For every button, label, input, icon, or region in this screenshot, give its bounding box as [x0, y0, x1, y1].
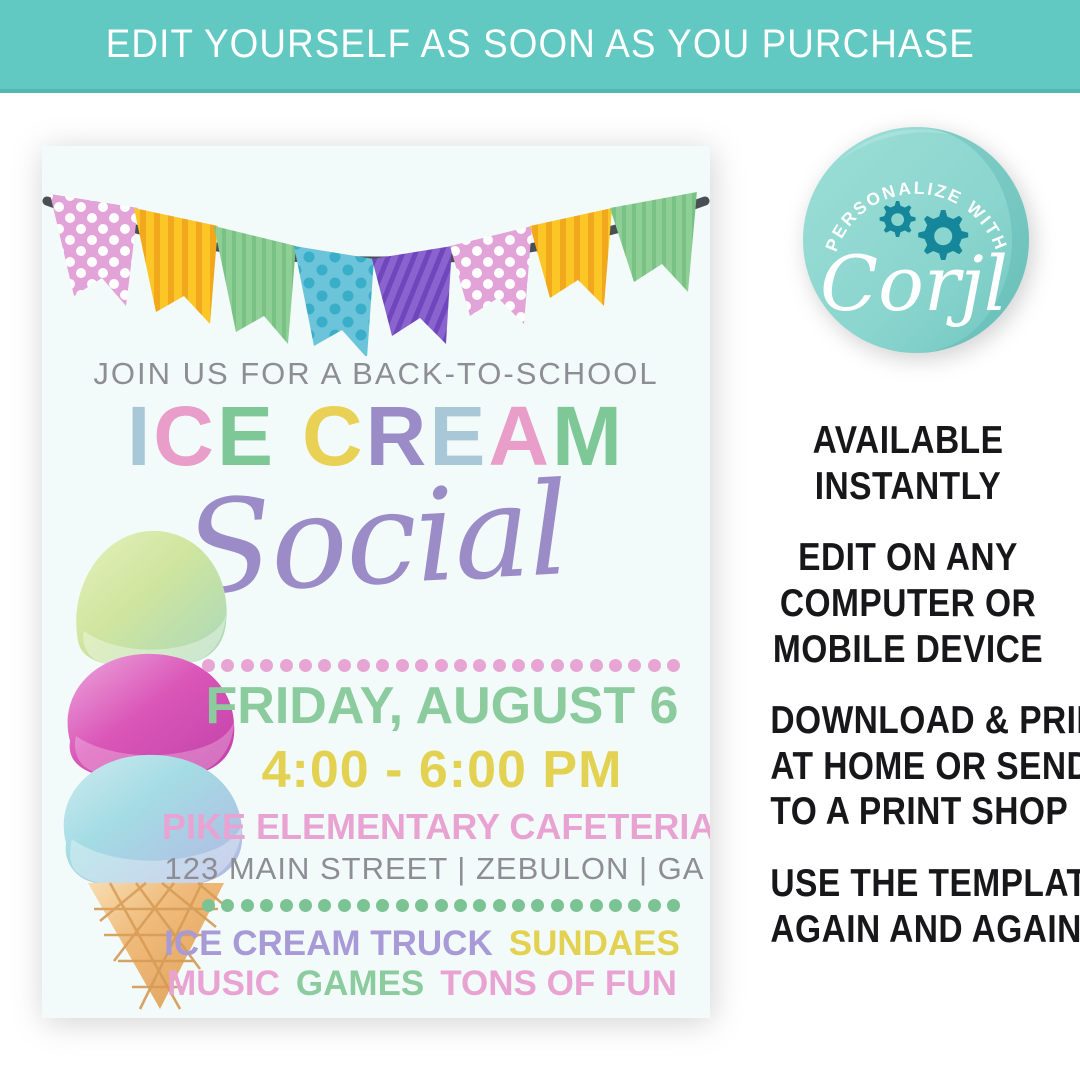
divider-dot [570, 899, 583, 912]
divider-dot [667, 659, 680, 672]
event-venue: PIKE ELEMENTARY CAFETERIA [162, 806, 707, 848]
feature-line: INSTANTLY [770, 464, 1045, 510]
divider-dots-bottom [202, 898, 680, 912]
corjl-badge[interactable]: PERSONALIZE WITH Corjl [800, 124, 1033, 357]
feature-line: COMPUTER OR [770, 581, 1045, 627]
feature-line: AGAIN AND AGAIN! [770, 907, 1045, 953]
divider-dot [473, 899, 486, 912]
title-letter-1: C [153, 389, 217, 483]
title-letter-2: E [217, 389, 276, 483]
divider-dot [357, 899, 370, 912]
event-date: FRIDAY, AUGUST 6 [182, 676, 702, 736]
activity-item: TONS OF FUN [440, 964, 677, 1003]
divider-dot [512, 659, 525, 672]
title-letter-3: C [302, 389, 366, 483]
divider-dot [531, 899, 544, 912]
divider-dots-top [202, 658, 680, 672]
title-letter-6: A [488, 389, 552, 483]
title-letter-0: I [127, 389, 153, 483]
divider-dot [551, 899, 564, 912]
activities-row-2: MUSICGAMESTONS OF FUN [142, 964, 702, 1004]
divider-dot [241, 659, 254, 672]
promo-banner-text: EDIT YOURSELF AS SOON AS YOU PURCHASE [105, 22, 974, 67]
feature-block-2: DOWNLOAD & PRINTAT HOME OR SENDTO A PRIN… [770, 698, 1045, 835]
activity-item: SUNDAES [509, 924, 680, 963]
feature-line: AVAILABLE [770, 418, 1045, 464]
divider-dot [609, 899, 622, 912]
divider-dot [318, 899, 331, 912]
activities-row-1: ICE CREAM TRUCKSUNDAES [142, 924, 702, 964]
feature-line: EDIT ON ANY [770, 535, 1045, 581]
divider-dot [396, 899, 409, 912]
feature-block-1: EDIT ON ANYCOMPUTER ORMOBILE DEVICE [770, 535, 1045, 672]
feature-line: TO A PRINT SHOP [770, 789, 1045, 835]
feature-line: USE THE TEMPLATE [770, 861, 1045, 907]
divider-dot [648, 659, 661, 672]
feature-line: AT HOME OR SEND [770, 744, 1045, 790]
divider-dot [241, 899, 254, 912]
divider-dot [435, 899, 448, 912]
divider-dot [493, 659, 506, 672]
title-letter-4: R [366, 389, 430, 483]
divider-dot [493, 899, 506, 912]
divider-dot [221, 899, 234, 912]
divider-dot [415, 899, 428, 912]
promo-banner: EDIT YOURSELF AS SOON AS YOU PURCHASE [0, 0, 1080, 93]
divider-dot [202, 899, 215, 912]
divider-dot [590, 899, 603, 912]
invitation-card[interactable]: JOIN US FOR A BACK-TO-SCHOOL ICECREAM So… [42, 146, 710, 1018]
divider-dot [628, 899, 641, 912]
divider-dot [260, 659, 273, 672]
activity-item: ICE CREAM TRUCK [164, 924, 493, 963]
title-letter-5: E [429, 389, 488, 483]
invitation-eyebrow: JOIN US FOR A BACK-TO-SCHOOL [42, 356, 710, 392]
divider-dot [357, 659, 370, 672]
feature-block-0: AVAILABLEINSTANTLY [770, 418, 1045, 509]
divider-dot [376, 899, 389, 912]
divider-dot [318, 659, 331, 672]
event-time: 4:00 - 6:00 PM [182, 740, 702, 800]
bunting-flags-decoration [42, 146, 710, 356]
invitation-title: ICECREAM [42, 394, 710, 478]
divider-dot [454, 659, 467, 672]
event-address: 123 MAIN STREET | ZEBULON | GA [162, 851, 707, 887]
divider-dot [435, 659, 448, 672]
divider-dot [648, 899, 661, 912]
divider-dot [280, 659, 293, 672]
feature-line: DOWNLOAD & PRINT [770, 698, 1045, 744]
divider-dot [338, 659, 351, 672]
divider-dot [202, 659, 215, 672]
divider-dot [454, 899, 467, 912]
feature-block-3: USE THE TEMPLATEAGAIN AND AGAIN! [770, 861, 1045, 952]
divider-dot [473, 659, 486, 672]
divider-dot [260, 899, 273, 912]
divider-dot [570, 659, 583, 672]
divider-dot [609, 659, 622, 672]
divider-dot [551, 659, 564, 672]
divider-dot [376, 659, 389, 672]
divider-dot [396, 659, 409, 672]
divider-dot [338, 899, 351, 912]
divider-dot [590, 659, 603, 672]
divider-dot [512, 899, 525, 912]
divider-dot [531, 659, 544, 672]
feature-list: AVAILABLEINSTANTLYEDIT ON ANYCOMPUTER OR… [748, 418, 1068, 978]
divider-dot [415, 659, 428, 672]
activity-item: MUSIC [167, 964, 280, 1003]
divider-dot [299, 899, 312, 912]
divider-dot [667, 899, 680, 912]
feature-line: MOBILE DEVICE [770, 627, 1045, 673]
divider-dot [221, 659, 234, 672]
divider-dot [299, 659, 312, 672]
badge-brand-text: Corjl [820, 239, 1008, 328]
divider-dot [280, 899, 293, 912]
divider-dot [628, 659, 641, 672]
title-letter-7: M [552, 389, 625, 483]
activity-item: GAMES [296, 964, 424, 1003]
